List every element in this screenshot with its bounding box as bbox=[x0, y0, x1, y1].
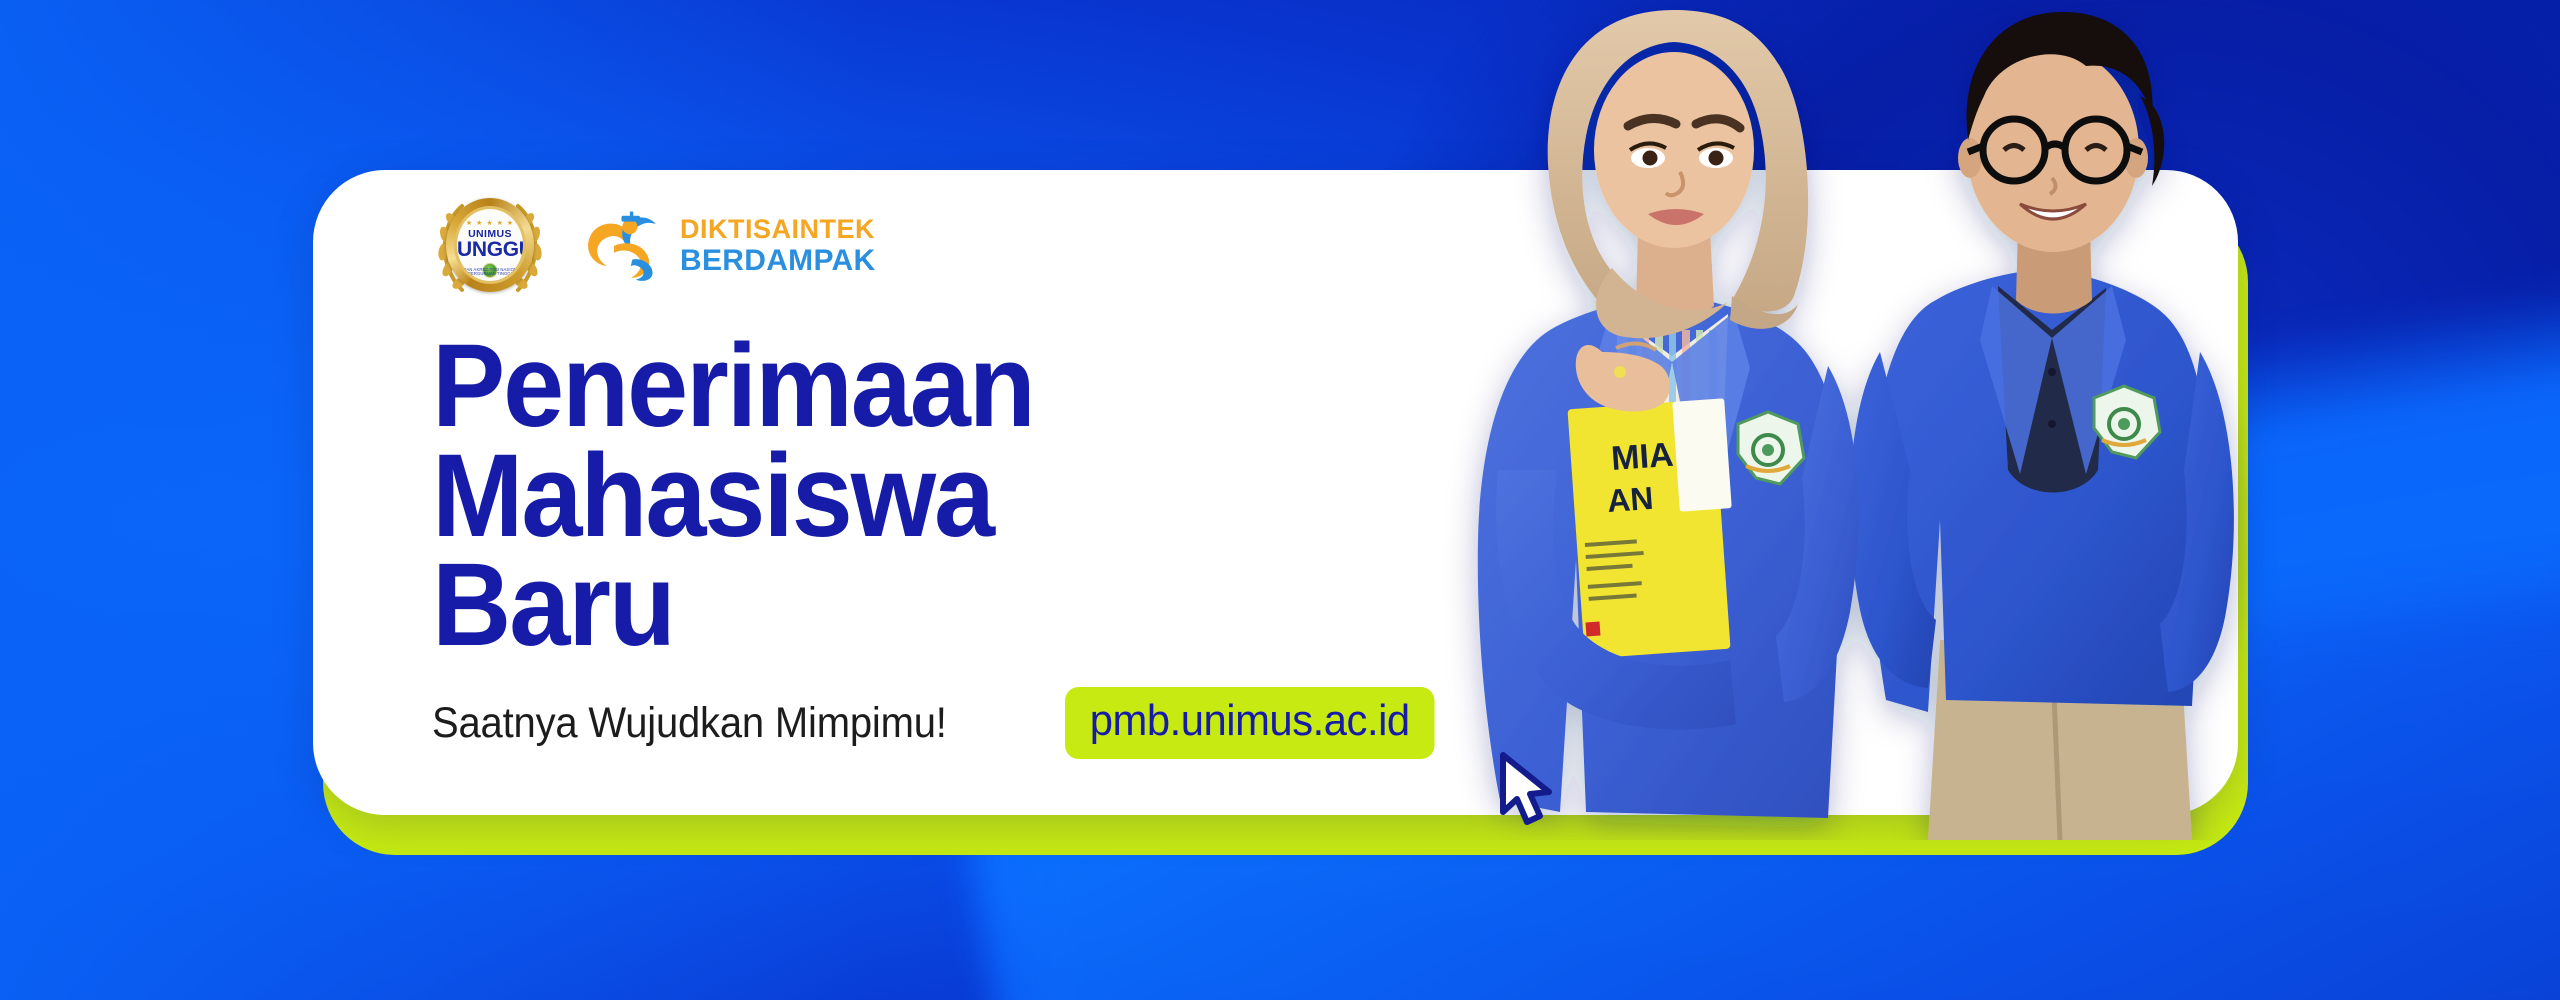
cursor-arrow-icon bbox=[1497, 752, 1559, 826]
diktisaintek-line1: DIKTISAINTEK bbox=[680, 216, 875, 243]
medallion-stars: ★ ★ ★ ★ ★ bbox=[457, 220, 523, 227]
page-title: Penerimaan Mahasiswa Baru bbox=[432, 332, 1362, 661]
mouse-pointer-icon bbox=[1497, 752, 1559, 826]
medallion-sub-text: BADAN AKREDITASI NASIONAL PERGURUAN TING… bbox=[457, 268, 523, 276]
card-content: ★ ★ ★ ★ ★ UNIMUS UNGGUL BADAN AKREDITASI… bbox=[432, 186, 1432, 759]
unimus-unggul-medallion-icon: ★ ★ ★ ★ ★ UNIMUS UNGGUL BADAN AKREDITASI… bbox=[432, 190, 548, 302]
logo-row: ★ ★ ★ ★ ★ UNIMUS UNGGUL BADAN AKREDITASI… bbox=[432, 186, 1432, 306]
medallion-face: ★ ★ ★ ★ ★ UNIMUS UNGGUL BADAN AKREDITASI… bbox=[454, 206, 526, 284]
pmb-url-badge[interactable]: pmb.unimus.ac.id bbox=[1065, 687, 1434, 759]
subtitle-row: Saatnya Wujudkan Mimpimu! pmb.unimus.ac.… bbox=[432, 687, 1432, 759]
diktisaintek-berdampak-logo: DIKTISAINTEK BERDAMPAK bbox=[582, 204, 875, 288]
promo-banner: ★ ★ ★ ★ ★ UNIMUS UNGGUL BADAN AKREDITASI… bbox=[0, 0, 2560, 1000]
medallion-main-text: UNGGUL bbox=[457, 239, 523, 260]
diktisaintek-line2: BERDAMPAK bbox=[680, 246, 875, 276]
diktisaintek-wordmark: DIKTISAINTEK BERDAMPAK bbox=[680, 216, 875, 276]
diktisaintek-figure-icon bbox=[582, 204, 666, 288]
subtitle: Saatnya Wujudkan Mimpimu! bbox=[432, 699, 947, 748]
